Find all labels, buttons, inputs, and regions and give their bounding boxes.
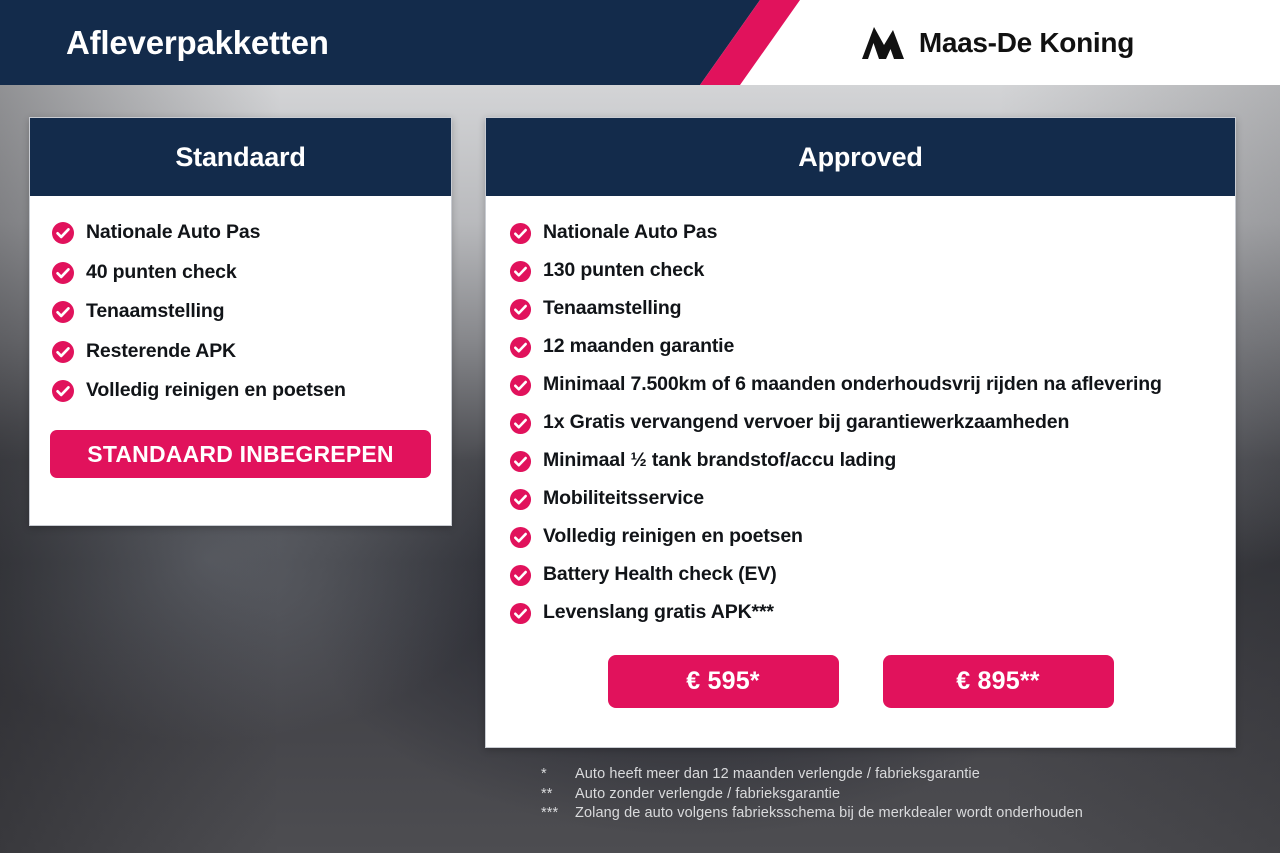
feature-label: 1x Gratis vervangend vervoer bij garanti…: [543, 410, 1069, 435]
list-item: Nationale Auto Pas: [51, 220, 433, 245]
feature-label: Levenslang gratis APK***: [543, 600, 774, 625]
check-circle-icon: [509, 412, 532, 435]
feature-label: Nationale Auto Pas: [86, 220, 260, 245]
list-item: Mobiliteitsservice: [509, 486, 1221, 511]
check-circle-icon: [51, 300, 75, 324]
footnote-text: Auto heeft meer dan 12 maanden verlengde…: [575, 765, 1241, 785]
feature-label: Volledig reinigen en poetsen: [543, 524, 803, 549]
footnote-list: * Auto heeft meer dan 12 maanden verleng…: [541, 765, 1241, 824]
feature-label: 12 maanden garantie: [543, 334, 734, 359]
check-circle-icon: [51, 379, 75, 403]
promo-poster: Afleverpakketten Maas-De Koning Standaar…: [0, 0, 1280, 853]
list-item: 40 punten check: [51, 260, 433, 285]
feature-list-approved: Nationale Auto Pas 130 punten check Tena…: [486, 220, 1235, 625]
check-circle-icon: [509, 526, 532, 549]
card-header-standaard: Standaard: [30, 118, 451, 196]
check-circle-icon: [509, 602, 532, 625]
list-item: 1x Gratis vervangend vervoer bij garanti…: [509, 410, 1221, 435]
price-button-895[interactable]: € 895**: [883, 655, 1114, 708]
footnote-text: Zolang de auto volgens fabrieksschema bi…: [575, 804, 1241, 824]
feature-label: Resterende APK: [86, 339, 236, 364]
footnote-text: Auto zonder verlengde / fabrieksgarantie: [575, 785, 1241, 805]
list-item: Tenaamstelling: [509, 296, 1221, 321]
feature-label: 40 punten check: [86, 260, 237, 285]
list-item: 12 maanden garantie: [509, 334, 1221, 359]
price-button-595[interactable]: € 595*: [608, 655, 839, 708]
footnote-item: ** Auto zonder verlengde / fabrieksgaran…: [541, 785, 1241, 805]
list-item: Minimaal ½ tank brandstof/accu lading: [509, 448, 1221, 473]
maas-de-koning-m-logo-icon: [860, 23, 906, 63]
page-header: Afleverpakketten Maas-De Koning: [0, 0, 1280, 85]
feature-label: Minimaal 7.500km of 6 maanden onderhouds…: [543, 372, 1162, 397]
list-item: Levenslang gratis APK***: [509, 600, 1221, 625]
list-item: Volledig reinigen en poetsen: [509, 524, 1221, 549]
check-circle-icon: [51, 340, 75, 364]
list-item: Volledig reinigen en poetsen: [51, 378, 433, 403]
card-body-approved: Nationale Auto Pas 130 punten check Tena…: [486, 196, 1235, 708]
brand-name: Maas-De Koning: [919, 27, 1134, 59]
card-body-standaard: Nationale Auto Pas 40 punten check Tenaa…: [30, 196, 451, 478]
list-item: Resterende APK: [51, 339, 433, 364]
list-item: Nationale Auto Pas: [509, 220, 1221, 245]
feature-label: Volledig reinigen en poetsen: [86, 378, 346, 403]
feature-label: Nationale Auto Pas: [543, 220, 717, 245]
check-circle-icon: [509, 450, 532, 473]
check-circle-icon: [509, 260, 532, 283]
card-title: Standaard: [175, 142, 305, 173]
feature-label: Tenaamstelling: [543, 296, 681, 321]
feature-label: Battery Health check (EV): [543, 562, 777, 587]
brand-lockup: Maas-De Koning: [860, 0, 1134, 85]
feature-label: Mobiliteitsservice: [543, 486, 704, 511]
card-title: Approved: [798, 142, 922, 173]
check-circle-icon: [509, 374, 532, 397]
feature-label: Minimaal ½ tank brandstof/accu lading: [543, 448, 896, 473]
footnote-marker: *: [541, 765, 575, 785]
check-circle-icon: [509, 336, 532, 359]
footnote-item: * Auto heeft meer dan 12 maanden verleng…: [541, 765, 1241, 785]
price-button-row: € 595* € 895**: [486, 655, 1235, 708]
check-circle-icon: [509, 488, 532, 511]
footnote-marker: **: [541, 785, 575, 805]
check-circle-icon: [509, 298, 532, 321]
check-circle-icon: [509, 222, 532, 245]
package-card-standaard: Standaard Nationale Auto Pas 40 punten c: [29, 117, 452, 526]
list-item: Minimaal 7.500km of 6 maanden onderhouds…: [509, 372, 1221, 397]
card-header-approved: Approved: [486, 118, 1235, 196]
list-item: Tenaamstelling: [51, 299, 433, 324]
list-item: Battery Health check (EV): [509, 562, 1221, 587]
page-title: Afleverpakketten: [66, 0, 329, 85]
list-item: 130 punten check: [509, 258, 1221, 283]
check-circle-icon: [51, 261, 75, 285]
check-circle-icon: [51, 221, 75, 245]
standaard-included-button[interactable]: STANDAARD INBEGREPEN: [50, 430, 431, 478]
footnote-item: *** Zolang de auto volgens fabrieksschem…: [541, 804, 1241, 824]
feature-list-standaard: Nationale Auto Pas 40 punten check Tenaa…: [30, 220, 451, 403]
feature-label: Tenaamstelling: [86, 299, 224, 324]
package-card-approved: Approved Nationale Auto Pas 130 punten c: [485, 117, 1236, 748]
check-circle-icon: [509, 564, 532, 587]
footnote-marker: ***: [541, 804, 575, 824]
feature-label: 130 punten check: [543, 258, 704, 283]
